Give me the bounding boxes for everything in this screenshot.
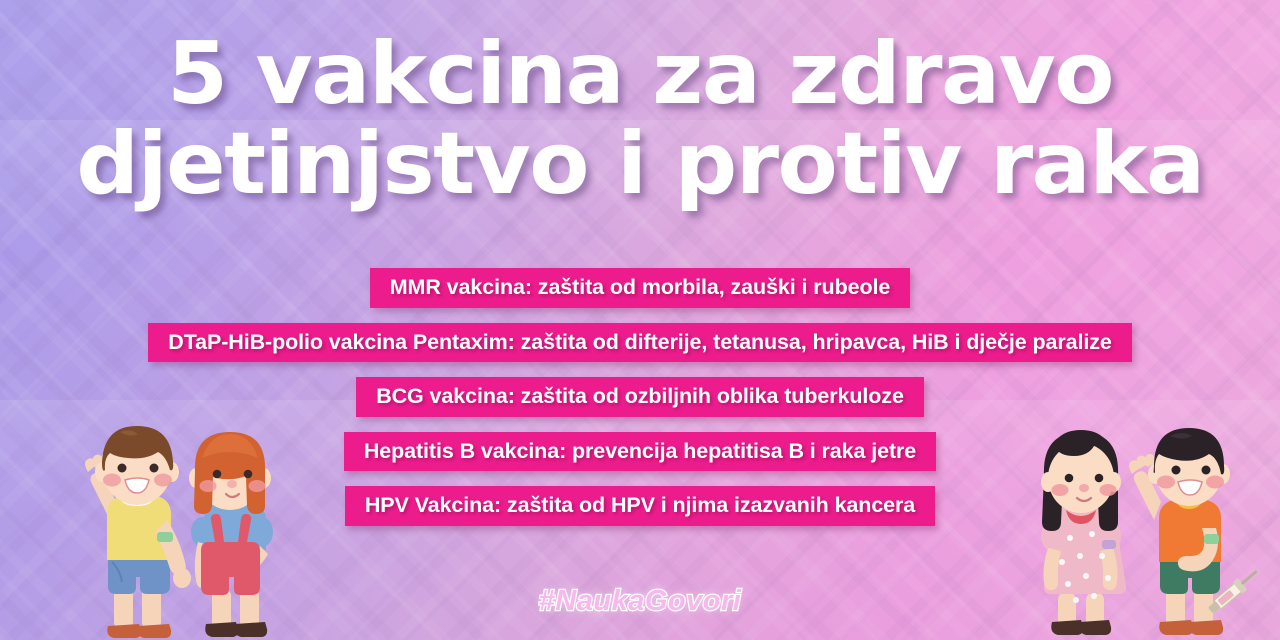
hashtag-nauka-govori: #NaukaGovori: [0, 585, 1280, 618]
vaccine-banner-bcg: BCG vakcina: zaštita od ozbiljnih oblika…: [356, 377, 924, 417]
vaccine-banner-hepb: Hepatitis B vakcina: prevencija hepatiti…: [344, 432, 936, 472]
vaccine-banner-mmr: MMR vakcina: zaštita od morbila, zauški …: [370, 268, 910, 308]
title-line-2: djetinjstvo i protiv raka: [0, 122, 1280, 206]
vaccine-banner-list: MMR vakcina: zaštita od morbila, zauški …: [0, 268, 1280, 526]
page-title: 5 vakcina za zdravo djetinjstvo i protiv…: [0, 32, 1280, 207]
vaccine-banner-hpv: HPV Vakcina: zaštita od HPV i njima izaz…: [345, 486, 935, 526]
vaccine-banner-dtap: DTaP-HiB-polio vakcina Pentaxim: zaštita…: [148, 323, 1131, 363]
title-line-1: 5 vakcina za zdravo: [0, 32, 1280, 116]
vaccine-infographic-poster: 5 vakcina za zdravo djetinjstvo i protiv…: [0, 0, 1280, 640]
